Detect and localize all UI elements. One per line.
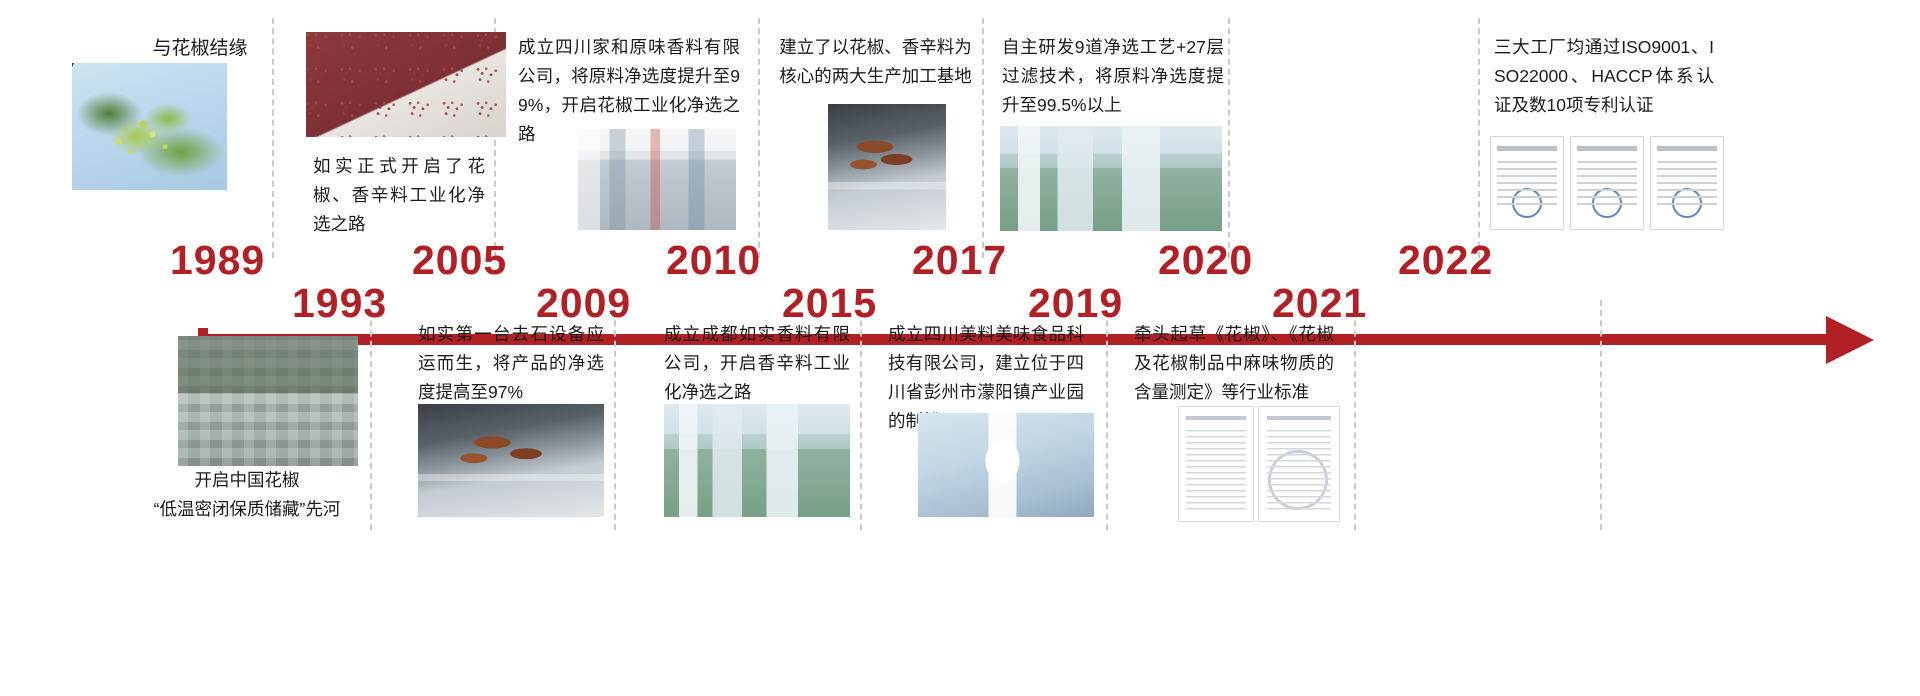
milestone-1993-body: 开启中国花椒 “低温密闭保质储藏”先河 (128, 466, 366, 524)
milestone-2022-year: 2022 (1398, 240, 1493, 281)
divider-top-6 (1478, 18, 1480, 258)
divider-bottom-1 (370, 300, 372, 530)
milestone-2010-image (578, 129, 736, 230)
certificate-iso22000 (1650, 136, 1724, 230)
milestone-2017-year: 2017 (912, 240, 1007, 281)
milestone-2021-body: 牵头起草《花椒》、《花椒及花椒制品中麻味物质的含量测定》等行业标准 (1134, 320, 1334, 407)
standard-document-right (1258, 406, 1340, 522)
milestone-2019-year: 2019 (1028, 283, 1123, 324)
milestone-2005-image (306, 32, 506, 137)
divider-top-5 (1228, 18, 1230, 258)
milestone-1989-year: 1989 (170, 240, 265, 281)
milestone-2005-body: 如实正式开启了花椒、香辛料工业化净选之路 (313, 152, 485, 239)
divider-top-4 (982, 18, 984, 258)
milestone-2020-body: 自主研发9道净选工艺+27层过滤技术，将原料净选度提升至99.5%以上 (1002, 33, 1224, 120)
divider-bottom-6 (1600, 300, 1602, 530)
milestone-2015-year: 2015 (782, 283, 877, 324)
milestone-2015-image (664, 404, 850, 517)
divider-bottom-4 (1106, 300, 1108, 530)
milestone-2015-body: 成立成都如实香料有限公司，开启香辛料工业化净选之路 (664, 320, 850, 407)
milestone-2005-year: 2005 (412, 240, 507, 281)
milestone-1989-heading: 与花椒结缘 (120, 34, 280, 63)
divider-top-3 (758, 18, 760, 258)
milestone-2010-year: 2010 (666, 240, 761, 281)
milestone-2021-image (1178, 406, 1340, 522)
certificate-haccp (1490, 136, 1564, 230)
standard-document-left (1178, 406, 1254, 522)
milestone-1993-image (178, 336, 358, 466)
divider-bottom-3 (860, 300, 862, 530)
milestone-2017-image (828, 104, 946, 230)
milestone-2020-year: 2020 (1158, 240, 1253, 281)
divider-bottom-5 (1354, 300, 1356, 530)
timeline-infographic: 与花椒结缘 1989 如实正式开启了花椒、香辛料工业化净选之路 2005 成立四… (0, 0, 1920, 696)
milestone-2009-image (418, 404, 604, 517)
milestone-2021-year: 2021 (1272, 283, 1367, 324)
certificate-iso9001 (1570, 136, 1644, 230)
milestone-2022-image (1490, 136, 1724, 230)
milestone-2017-body: 建立了以花椒、香辛料为核心的两大生产加工基地 (778, 33, 973, 91)
timeline-axis-arrow-icon (1826, 316, 1874, 364)
milestone-2022-body: 三大工厂均通过ISO9001、ISO22000、HACCP体系认证及数10项专利… (1494, 33, 1714, 120)
milestone-2020-image (1000, 126, 1222, 231)
milestone-1989-image (72, 63, 227, 190)
milestone-2019-image (918, 413, 1094, 517)
milestone-1993-year: 1993 (292, 283, 387, 324)
divider-bottom-2 (614, 300, 616, 530)
milestone-2009-year: 2009 (536, 283, 631, 324)
milestone-2009-body: 如实第一台去石设备应运而生，将产品的净选度提高至97% (418, 320, 604, 407)
